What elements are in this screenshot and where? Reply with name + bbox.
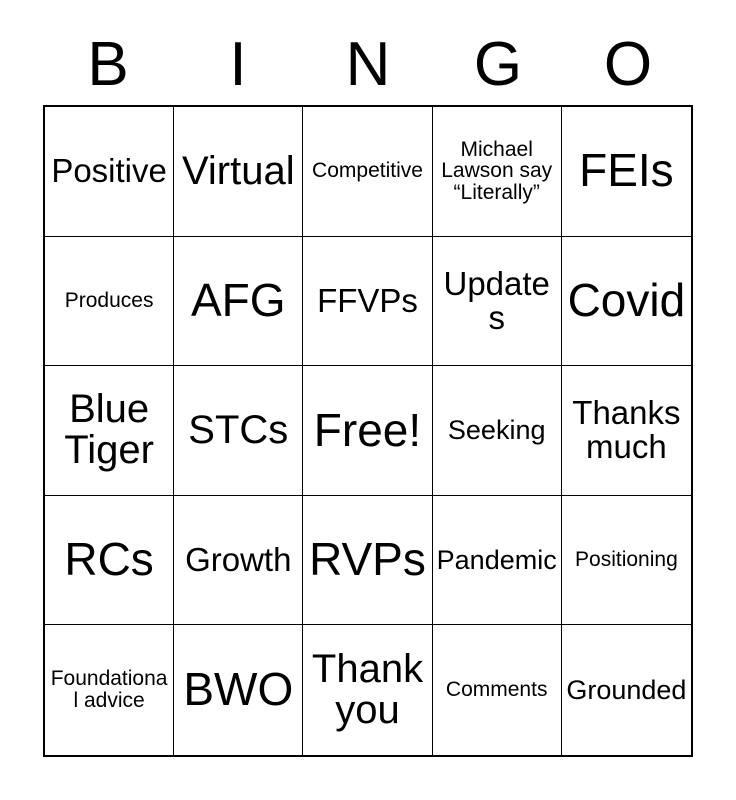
bingo-cell[interactable]: Produces bbox=[45, 237, 174, 367]
bingo-cell-label: Updates bbox=[437, 267, 557, 336]
bingo-cell[interactable]: Growth bbox=[174, 496, 303, 626]
bingo-cell-label: Thank you bbox=[307, 649, 427, 732]
bingo-cell-label: Positioning bbox=[566, 549, 687, 571]
bingo-cell-label: Grounded bbox=[566, 676, 687, 704]
bingo-cell[interactable]: STCs bbox=[174, 366, 303, 496]
bingo-cell[interactable]: Thank you bbox=[303, 625, 432, 755]
bingo-cell-label: Michael Lawson say “Literally” bbox=[437, 139, 557, 204]
bingo-cell-label: Foundational advice bbox=[49, 668, 169, 712]
bingo-cell[interactable]: Updates bbox=[433, 237, 562, 367]
bingo-cell[interactable]: Blue Tiger bbox=[45, 366, 174, 496]
bingo-cell-label: Blue Tiger bbox=[49, 389, 169, 472]
bingo-cell-free[interactable]: Free! bbox=[303, 366, 432, 496]
header-letter-n: N bbox=[303, 28, 433, 102]
header-letter-i: I bbox=[173, 28, 303, 102]
bingo-cell[interactable]: Foundational advice bbox=[45, 625, 174, 755]
bingo-cell-label: Thanks much bbox=[566, 396, 687, 465]
bingo-cell-label: STCs bbox=[178, 410, 298, 452]
bingo-cell-label: Pandemic bbox=[437, 546, 557, 574]
bingo-cell-label: Covid bbox=[566, 277, 687, 325]
bingo-cell[interactable]: Competitive bbox=[303, 107, 432, 237]
bingo-cell-label: Competitive bbox=[307, 160, 427, 182]
bingo-cell-label: Virtual bbox=[178, 151, 298, 193]
bingo-cell[interactable]: FEIs bbox=[562, 107, 691, 237]
bingo-cell[interactable]: Pandemic bbox=[433, 496, 562, 626]
bingo-cell-label: RCs bbox=[49, 536, 169, 584]
bingo-cell-label: Growth bbox=[178, 543, 298, 577]
bingo-cell-label: Produces bbox=[49, 290, 169, 312]
bingo-cell[interactable]: Virtual bbox=[174, 107, 303, 237]
bingo-cell-label: BWO bbox=[178, 666, 298, 714]
bingo-cell[interactable]: Thanks much bbox=[562, 366, 691, 496]
bingo-cell-label: Positive bbox=[49, 154, 169, 188]
bingo-cell-label: Comments bbox=[437, 679, 557, 701]
bingo-cell[interactable]: Grounded bbox=[562, 625, 691, 755]
bingo-cell[interactable]: BWO bbox=[174, 625, 303, 755]
bingo-cell-label: FFVPs bbox=[307, 284, 427, 318]
bingo-cell-label: FEIs bbox=[566, 147, 687, 195]
header-letter-o: O bbox=[563, 28, 693, 102]
bingo-cell[interactable]: Comments bbox=[433, 625, 562, 755]
bingo-grid: Positive Virtual Competitive Michael Law… bbox=[43, 105, 693, 757]
bingo-cell[interactable]: Michael Lawson say “Literally” bbox=[433, 107, 562, 237]
bingo-cell[interactable]: AFG bbox=[174, 237, 303, 367]
bingo-cell-label: AFG bbox=[178, 277, 298, 325]
bingo-cell[interactable]: Positioning bbox=[562, 496, 691, 626]
bingo-cell[interactable]: Covid bbox=[562, 237, 691, 367]
bingo-cell[interactable]: FFVPs bbox=[303, 237, 432, 367]
bingo-card: B I N G O Positive Virtual Competitive M… bbox=[0, 0, 736, 800]
bingo-cell-label: Seeking bbox=[437, 416, 557, 444]
bingo-header-row: B I N G O bbox=[43, 28, 693, 102]
bingo-cell[interactable]: Positive bbox=[45, 107, 174, 237]
bingo-cell-label: Free! bbox=[307, 407, 427, 455]
header-letter-g: G bbox=[433, 28, 563, 102]
bingo-cell-label: RVPs bbox=[307, 536, 427, 584]
bingo-cell[interactable]: RCs bbox=[45, 496, 174, 626]
bingo-cell[interactable]: Seeking bbox=[433, 366, 562, 496]
header-letter-b: B bbox=[43, 28, 173, 102]
bingo-cell[interactable]: RVPs bbox=[303, 496, 432, 626]
